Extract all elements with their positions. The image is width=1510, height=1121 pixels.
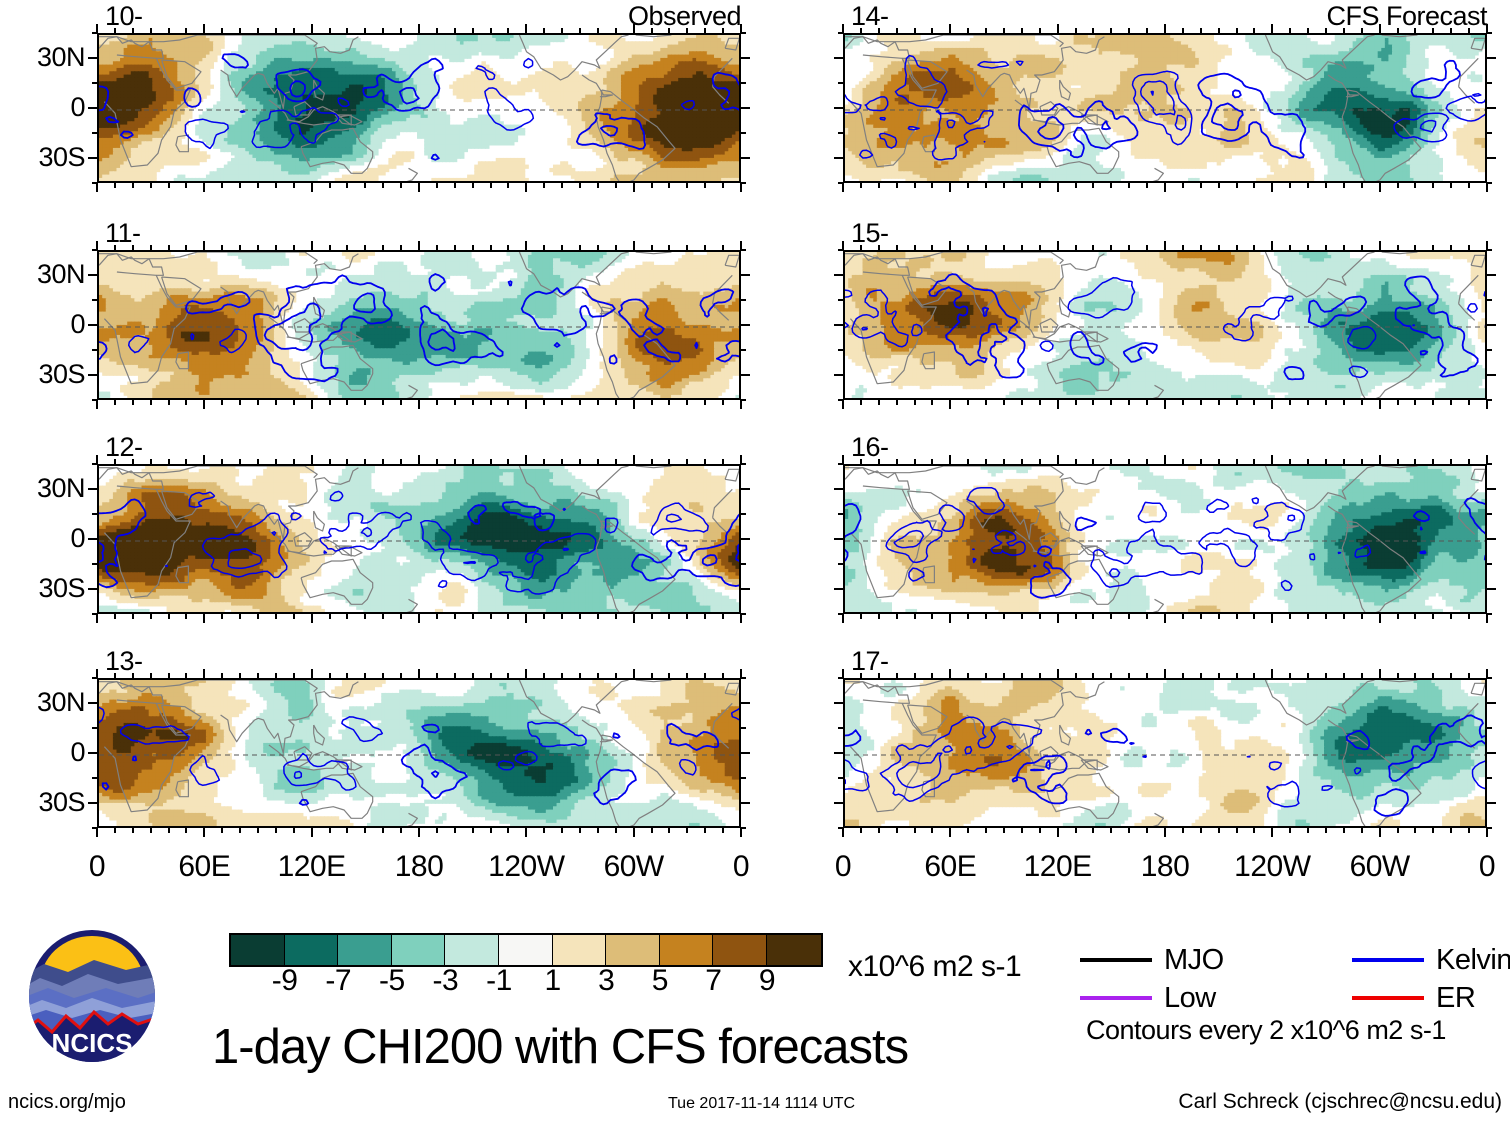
axis-tick bbox=[949, 828, 951, 837]
axis-tick bbox=[741, 488, 750, 490]
footer-website[interactable]: ncics.org/mjo bbox=[8, 1091, 126, 1113]
axis-tick bbox=[346, 245, 348, 250]
axis-tick bbox=[257, 183, 259, 188]
axis-tick bbox=[686, 28, 688, 33]
axis-tick bbox=[239, 28, 241, 33]
axis-tick bbox=[686, 614, 688, 619]
axis-tick bbox=[114, 673, 116, 678]
axis-tick bbox=[1253, 614, 1255, 619]
axis-tick bbox=[293, 673, 295, 678]
y-axis-label: 0 bbox=[0, 94, 85, 121]
axis-tick bbox=[132, 245, 134, 250]
axis-tick bbox=[1487, 513, 1492, 515]
axis-tick bbox=[838, 182, 843, 184]
axis-tick bbox=[311, 828, 313, 837]
axis-tick bbox=[1343, 245, 1345, 250]
x-axis-label: 180 bbox=[1105, 852, 1225, 882]
axis-tick bbox=[364, 245, 366, 250]
axis-tick bbox=[949, 669, 951, 678]
axis-tick bbox=[257, 828, 259, 833]
axis-tick bbox=[132, 183, 134, 188]
axis-tick bbox=[838, 677, 843, 679]
axis-tick bbox=[1236, 828, 1238, 833]
axis-tick bbox=[543, 673, 545, 678]
axis-tick bbox=[838, 349, 843, 351]
axis-tick bbox=[239, 245, 241, 250]
axis-tick bbox=[1361, 183, 1363, 188]
axis-tick bbox=[579, 828, 581, 833]
axis-tick bbox=[1307, 183, 1309, 188]
axis-tick bbox=[1397, 245, 1399, 250]
axis-tick bbox=[490, 400, 492, 405]
axis-tick bbox=[1021, 459, 1023, 464]
axis-tick bbox=[1075, 614, 1077, 619]
axis-tick bbox=[1487, 827, 1492, 829]
axis-tick bbox=[838, 399, 843, 401]
axis-tick bbox=[203, 241, 205, 250]
axis-tick bbox=[239, 183, 241, 188]
axis-tick bbox=[842, 614, 844, 623]
x-axis-label: 0 bbox=[1427, 852, 1510, 882]
axis-tick bbox=[1468, 828, 1470, 833]
axis-tick bbox=[579, 614, 581, 619]
axis-tick bbox=[1164, 455, 1166, 464]
axis-tick bbox=[651, 673, 653, 678]
axis-tick bbox=[346, 183, 348, 188]
axis-tick bbox=[1236, 459, 1238, 464]
axis-tick bbox=[914, 183, 916, 188]
axis-tick bbox=[346, 614, 348, 619]
axis-tick bbox=[1325, 828, 1327, 833]
axis-tick bbox=[257, 673, 259, 678]
axis-tick bbox=[92, 777, 97, 779]
axis-tick bbox=[185, 459, 187, 464]
axis-tick bbox=[203, 183, 205, 192]
axis-tick bbox=[1487, 777, 1492, 779]
axis-tick bbox=[1487, 727, 1492, 729]
axis-tick bbox=[92, 677, 97, 679]
axis-tick bbox=[1236, 183, 1238, 188]
axis-tick bbox=[1343, 400, 1345, 405]
axis-tick bbox=[543, 183, 545, 188]
axis-tick bbox=[838, 463, 843, 465]
axis-tick bbox=[1361, 614, 1363, 619]
axis-tick bbox=[92, 463, 97, 465]
axis-tick bbox=[418, 455, 420, 464]
y-axis-label: 30N bbox=[0, 689, 85, 716]
axis-tick bbox=[1110, 28, 1112, 33]
colorbar-tick-label: 9 bbox=[742, 966, 792, 996]
axis-tick bbox=[1057, 24, 1059, 33]
axis-tick bbox=[1164, 24, 1166, 33]
axis-tick bbox=[1128, 828, 1130, 833]
axis-tick bbox=[1432, 28, 1434, 33]
axis-tick bbox=[1128, 614, 1130, 619]
axis-tick bbox=[293, 400, 295, 405]
axis-tick bbox=[1271, 241, 1273, 250]
axis-tick bbox=[92, 727, 97, 729]
axis-tick bbox=[1218, 459, 1220, 464]
axis-tick bbox=[838, 513, 843, 515]
axis-tick bbox=[311, 400, 313, 409]
axis-tick bbox=[257, 28, 259, 33]
axis-tick bbox=[896, 245, 898, 250]
axis-tick bbox=[838, 249, 843, 251]
axis-tick bbox=[1039, 245, 1041, 250]
axis-tick bbox=[741, 677, 746, 679]
axis-tick bbox=[490, 673, 492, 678]
axis-tick bbox=[221, 28, 223, 33]
axis-tick bbox=[92, 82, 97, 84]
ncics-logo: NCICS bbox=[22, 928, 162, 1070]
axis-tick bbox=[1253, 183, 1255, 188]
axis-tick bbox=[275, 459, 277, 464]
axis-tick bbox=[185, 183, 187, 188]
axis-tick bbox=[1487, 488, 1496, 490]
colorbar-swatch bbox=[231, 935, 285, 965]
axis-tick bbox=[740, 614, 742, 623]
axis-tick bbox=[1414, 245, 1416, 250]
axis-tick bbox=[878, 614, 880, 619]
axis-tick bbox=[633, 183, 635, 192]
axis-tick bbox=[400, 183, 402, 188]
axis-tick bbox=[507, 245, 509, 250]
axis-tick bbox=[1379, 455, 1381, 464]
y-axis-label: 30S bbox=[0, 144, 85, 171]
legend-label: Low bbox=[1164, 983, 1216, 1013]
colorbar-tick-label: 7 bbox=[688, 966, 738, 996]
x-axis-label: 120W bbox=[1212, 852, 1332, 882]
axis-tick bbox=[1450, 614, 1452, 619]
axis-tick bbox=[92, 399, 97, 401]
axis-tick bbox=[704, 828, 706, 833]
axis-tick bbox=[436, 245, 438, 250]
axis-tick bbox=[418, 24, 420, 33]
axis-tick bbox=[525, 669, 527, 678]
axis-tick bbox=[1379, 183, 1381, 192]
axis-tick bbox=[132, 614, 134, 619]
legend-line-swatch bbox=[1352, 996, 1424, 1000]
axis-tick bbox=[490, 28, 492, 33]
axis-tick bbox=[834, 107, 843, 109]
axis-tick bbox=[1092, 400, 1094, 405]
axis-tick bbox=[633, 614, 635, 623]
colorbar-tick-label: -1 bbox=[474, 966, 524, 996]
axis-tick bbox=[668, 828, 670, 833]
axis-tick bbox=[741, 57, 750, 59]
axis-tick bbox=[418, 400, 420, 409]
axis-tick bbox=[561, 614, 563, 619]
axis-tick bbox=[1379, 828, 1381, 837]
axis-tick bbox=[1289, 828, 1291, 833]
axis-tick bbox=[1432, 614, 1434, 619]
axis-tick bbox=[1200, 673, 1202, 678]
axis-tick bbox=[741, 613, 746, 615]
axis-tick bbox=[293, 245, 295, 250]
axis-tick bbox=[472, 400, 474, 405]
axis-tick bbox=[329, 673, 331, 678]
axis-tick bbox=[741, 777, 746, 779]
y-axis-label: 30N bbox=[0, 475, 85, 502]
axis-tick bbox=[834, 802, 843, 804]
axis-tick bbox=[293, 28, 295, 33]
axis-tick bbox=[1057, 241, 1059, 250]
axis-tick bbox=[472, 245, 474, 250]
axis-tick bbox=[88, 488, 97, 490]
axis-tick bbox=[1361, 673, 1363, 678]
axis-tick bbox=[168, 828, 170, 833]
footer-author: Carl Schreck (cjschrec@ncsu.edu) bbox=[1178, 1091, 1502, 1113]
axis-tick bbox=[1487, 32, 1492, 34]
axis-tick bbox=[275, 400, 277, 405]
axis-tick bbox=[1128, 673, 1130, 678]
axis-tick bbox=[931, 673, 933, 678]
map-panel bbox=[97, 464, 741, 614]
axis-tick bbox=[525, 400, 527, 409]
axis-tick bbox=[1432, 245, 1434, 250]
axis-tick bbox=[1487, 538, 1496, 540]
axis-tick bbox=[722, 614, 724, 619]
colorbar-units-label: x10^6 m2 s-1 bbox=[848, 952, 1021, 982]
axis-tick bbox=[543, 28, 545, 33]
y-axis-label: 30S bbox=[0, 789, 85, 816]
axis-tick bbox=[615, 28, 617, 33]
axis-tick bbox=[168, 28, 170, 33]
axis-tick bbox=[860, 459, 862, 464]
axis-tick bbox=[878, 459, 880, 464]
axis-tick bbox=[1200, 28, 1202, 33]
axis-tick bbox=[400, 28, 402, 33]
axis-tick bbox=[329, 183, 331, 188]
axis-tick bbox=[346, 459, 348, 464]
axis-tick bbox=[275, 183, 277, 188]
axis-tick bbox=[579, 400, 581, 405]
axis-tick bbox=[525, 455, 527, 464]
axis-tick bbox=[741, 727, 746, 729]
axis-tick bbox=[949, 24, 951, 33]
axis-tick bbox=[88, 107, 97, 109]
axis-tick bbox=[561, 245, 563, 250]
axis-tick bbox=[490, 828, 492, 833]
axis-tick bbox=[1343, 828, 1345, 833]
axis-tick bbox=[985, 673, 987, 678]
axis-tick bbox=[168, 245, 170, 250]
axis-tick bbox=[1057, 400, 1059, 409]
axis-tick bbox=[346, 400, 348, 405]
axis-tick bbox=[615, 183, 617, 188]
legend-label: Kelvin x2 bbox=[1436, 945, 1510, 975]
axis-tick bbox=[1021, 673, 1023, 678]
ncics-logo-icon: NCICS bbox=[22, 928, 162, 1070]
axis-tick bbox=[931, 28, 933, 33]
axis-tick bbox=[615, 828, 617, 833]
colorbar-tick-label: -3 bbox=[420, 966, 470, 996]
axis-tick bbox=[1397, 673, 1399, 678]
axis-tick bbox=[834, 588, 843, 590]
axis-tick bbox=[651, 614, 653, 619]
map-field bbox=[99, 680, 741, 828]
axis-tick bbox=[1487, 374, 1496, 376]
axis-tick bbox=[1289, 245, 1291, 250]
axis-tick bbox=[92, 563, 97, 565]
axis-tick bbox=[132, 28, 134, 33]
axis-tick bbox=[400, 459, 402, 464]
axis-tick bbox=[490, 245, 492, 250]
axis-tick bbox=[1487, 677, 1492, 679]
axis-tick bbox=[651, 459, 653, 464]
axis-tick bbox=[1164, 614, 1166, 623]
axis-tick bbox=[1325, 28, 1327, 33]
axis-tick bbox=[896, 400, 898, 405]
axis-tick bbox=[1487, 274, 1496, 276]
axis-tick bbox=[382, 828, 384, 833]
axis-tick bbox=[132, 400, 134, 405]
axis-tick bbox=[668, 245, 670, 250]
axis-tick bbox=[364, 400, 366, 405]
axis-tick bbox=[1021, 183, 1023, 188]
axis-tick bbox=[92, 513, 97, 515]
legend-line-swatch bbox=[1352, 958, 1424, 962]
axis-tick bbox=[931, 245, 933, 250]
axis-tick bbox=[1253, 245, 1255, 250]
axis-tick bbox=[741, 324, 750, 326]
axis-tick bbox=[967, 245, 969, 250]
axis-tick bbox=[579, 245, 581, 250]
axis-tick bbox=[704, 459, 706, 464]
axis-tick bbox=[436, 400, 438, 405]
axis-tick bbox=[741, 374, 750, 376]
wave-type-legend: MJOKelvin x2LowER bbox=[1080, 945, 1510, 1015]
axis-tick bbox=[1146, 400, 1148, 405]
axis-tick bbox=[1432, 183, 1434, 188]
axis-tick bbox=[1487, 57, 1496, 59]
axis-tick bbox=[257, 614, 259, 619]
axis-tick bbox=[1414, 673, 1416, 678]
axis-tick bbox=[597, 183, 599, 188]
axis-tick bbox=[1432, 828, 1434, 833]
y-axis-label: 30N bbox=[0, 44, 85, 71]
x-axis-label: 120E bbox=[998, 852, 1118, 882]
axis-tick bbox=[597, 400, 599, 405]
axis-tick bbox=[1021, 245, 1023, 250]
axis-tick bbox=[1092, 673, 1094, 678]
axis-tick bbox=[150, 245, 152, 250]
axis-tick bbox=[740, 400, 742, 409]
axis-tick bbox=[1146, 459, 1148, 464]
axis-tick bbox=[967, 673, 969, 678]
axis-tick bbox=[1397, 828, 1399, 833]
axis-tick bbox=[1236, 614, 1238, 619]
axis-tick bbox=[203, 614, 205, 623]
axis-tick bbox=[92, 132, 97, 134]
map-field bbox=[845, 252, 1487, 400]
axis-tick bbox=[838, 727, 843, 729]
axis-tick bbox=[741, 463, 746, 465]
axis-tick bbox=[896, 828, 898, 833]
axis-tick bbox=[400, 614, 402, 619]
axis-tick bbox=[239, 614, 241, 619]
axis-tick bbox=[88, 702, 97, 704]
axis-tick bbox=[1021, 400, 1023, 405]
axis-tick bbox=[150, 459, 152, 464]
axis-tick bbox=[842, 183, 844, 192]
axis-tick bbox=[1253, 459, 1255, 464]
axis-tick bbox=[1182, 459, 1184, 464]
axis-tick bbox=[1075, 183, 1077, 188]
axis-tick bbox=[1432, 673, 1434, 678]
axis-tick bbox=[275, 28, 277, 33]
axis-tick bbox=[741, 588, 750, 590]
axis-tick bbox=[1146, 614, 1148, 619]
axis-tick bbox=[834, 374, 843, 376]
axis-tick bbox=[293, 828, 295, 833]
axis-tick bbox=[96, 183, 98, 192]
axis-tick bbox=[1468, 614, 1470, 619]
map-panel bbox=[843, 678, 1487, 828]
axis-tick bbox=[985, 828, 987, 833]
axis-tick bbox=[1450, 28, 1452, 33]
axis-tick bbox=[1039, 183, 1041, 188]
axis-tick bbox=[834, 157, 843, 159]
axis-tick bbox=[741, 299, 746, 301]
axis-tick bbox=[1218, 245, 1220, 250]
axis-tick bbox=[838, 299, 843, 301]
axis-tick bbox=[704, 673, 706, 678]
x-axis-label: 60W bbox=[1320, 852, 1440, 882]
axis-tick bbox=[1164, 400, 1166, 409]
axis-tick bbox=[1200, 183, 1202, 188]
axis-tick bbox=[1450, 245, 1452, 250]
axis-tick bbox=[740, 828, 742, 837]
map-panel bbox=[843, 33, 1487, 183]
axis-tick bbox=[168, 183, 170, 188]
axis-tick bbox=[275, 828, 277, 833]
colorbar-swatch bbox=[285, 935, 339, 965]
axis-tick bbox=[1307, 673, 1309, 678]
axis-tick bbox=[741, 32, 746, 34]
axis-tick bbox=[985, 400, 987, 405]
axis-tick bbox=[741, 107, 750, 109]
colorbar-swatch bbox=[499, 935, 553, 965]
map-panel bbox=[97, 678, 741, 828]
axis-tick bbox=[1271, 400, 1273, 409]
figure-title: 1-day CHI200 with CFS forecasts bbox=[212, 1021, 908, 1073]
axis-tick bbox=[741, 827, 746, 829]
axis-tick bbox=[1146, 28, 1148, 33]
map-field bbox=[845, 466, 1487, 614]
colorbar-swatch bbox=[713, 935, 767, 965]
axis-tick bbox=[1487, 588, 1496, 590]
axis-tick bbox=[1039, 614, 1041, 619]
axis-tick bbox=[838, 777, 843, 779]
axis-tick bbox=[1182, 245, 1184, 250]
axis-tick bbox=[507, 183, 509, 188]
axis-tick bbox=[311, 241, 313, 250]
axis-tick bbox=[842, 400, 844, 409]
axis-tick bbox=[454, 245, 456, 250]
axis-tick bbox=[1236, 28, 1238, 33]
axis-tick bbox=[741, 349, 746, 351]
axis-tick bbox=[311, 24, 313, 33]
axis-tick bbox=[418, 183, 420, 192]
axis-tick bbox=[931, 459, 933, 464]
axis-tick bbox=[525, 614, 527, 623]
axis-tick bbox=[311, 669, 313, 678]
axis-tick bbox=[1128, 28, 1130, 33]
axis-tick bbox=[704, 28, 706, 33]
axis-tick bbox=[741, 132, 746, 134]
axis-tick bbox=[1487, 182, 1492, 184]
